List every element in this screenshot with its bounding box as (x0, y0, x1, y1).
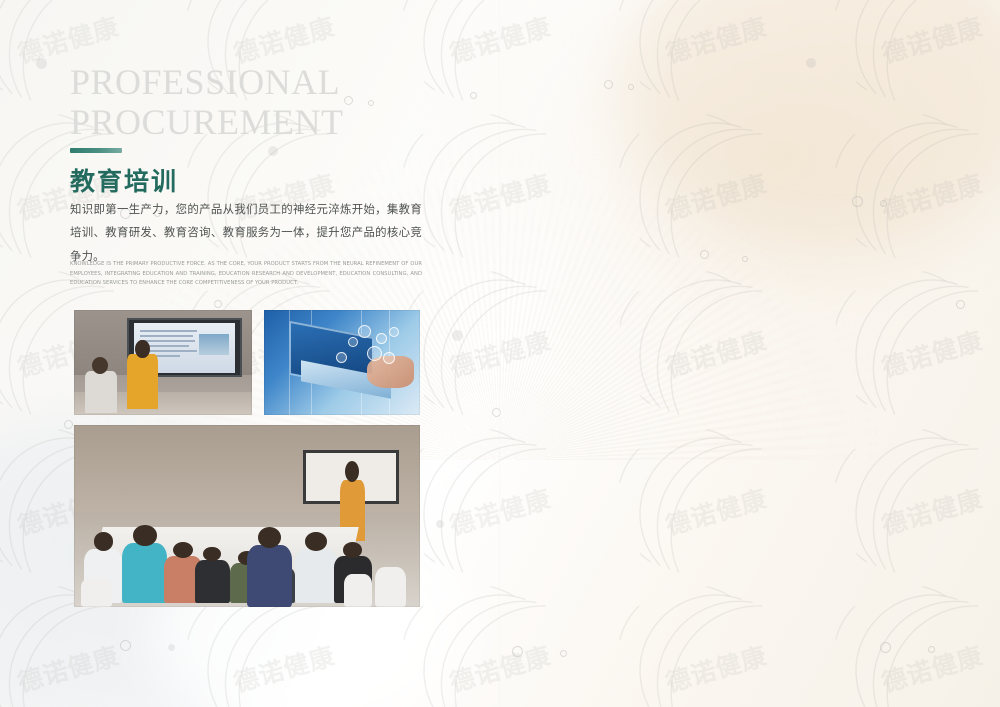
photo-frame (264, 310, 420, 415)
brochure-page: 德诺健康德诺健康德诺健康德诺健康德诺健康德诺健康德诺健康德诺健康德诺健康德诺健康… (0, 0, 1000, 707)
content-columns: PROFESSIONAL PROCUREMENT 教育培训 知识即第一生产力，您… (0, 0, 1000, 707)
left-hero-title: PROFESSIONAL PROCUREMENT (70, 62, 344, 143)
photo-classroom-meeting (74, 425, 420, 607)
photo-frame (74, 310, 252, 415)
right-column: FULLY QUALIFIED 科学研究 德诺健康拥有专业的研发团队，配备各种研… (450, 0, 1000, 707)
left-column: PROFESSIONAL PROCUREMENT 教育培训 知识即第一生产力，您… (0, 0, 450, 707)
left-body-english: KNOWLEDGE IS THE PRIMARY PRODUCTIVE FORC… (70, 260, 422, 289)
photo-frame (74, 425, 420, 607)
left-body-chinese: 知识即第一生产力，您的产品从我们员工的神经元淬炼开始，集教育培训、教育研发、教育… (70, 198, 422, 268)
photo-digital-tech (264, 310, 420, 415)
left-section-title: 教育培训 (70, 162, 178, 198)
left-accent-bar (70, 148, 122, 153)
photo-training-presentation (74, 310, 252, 415)
